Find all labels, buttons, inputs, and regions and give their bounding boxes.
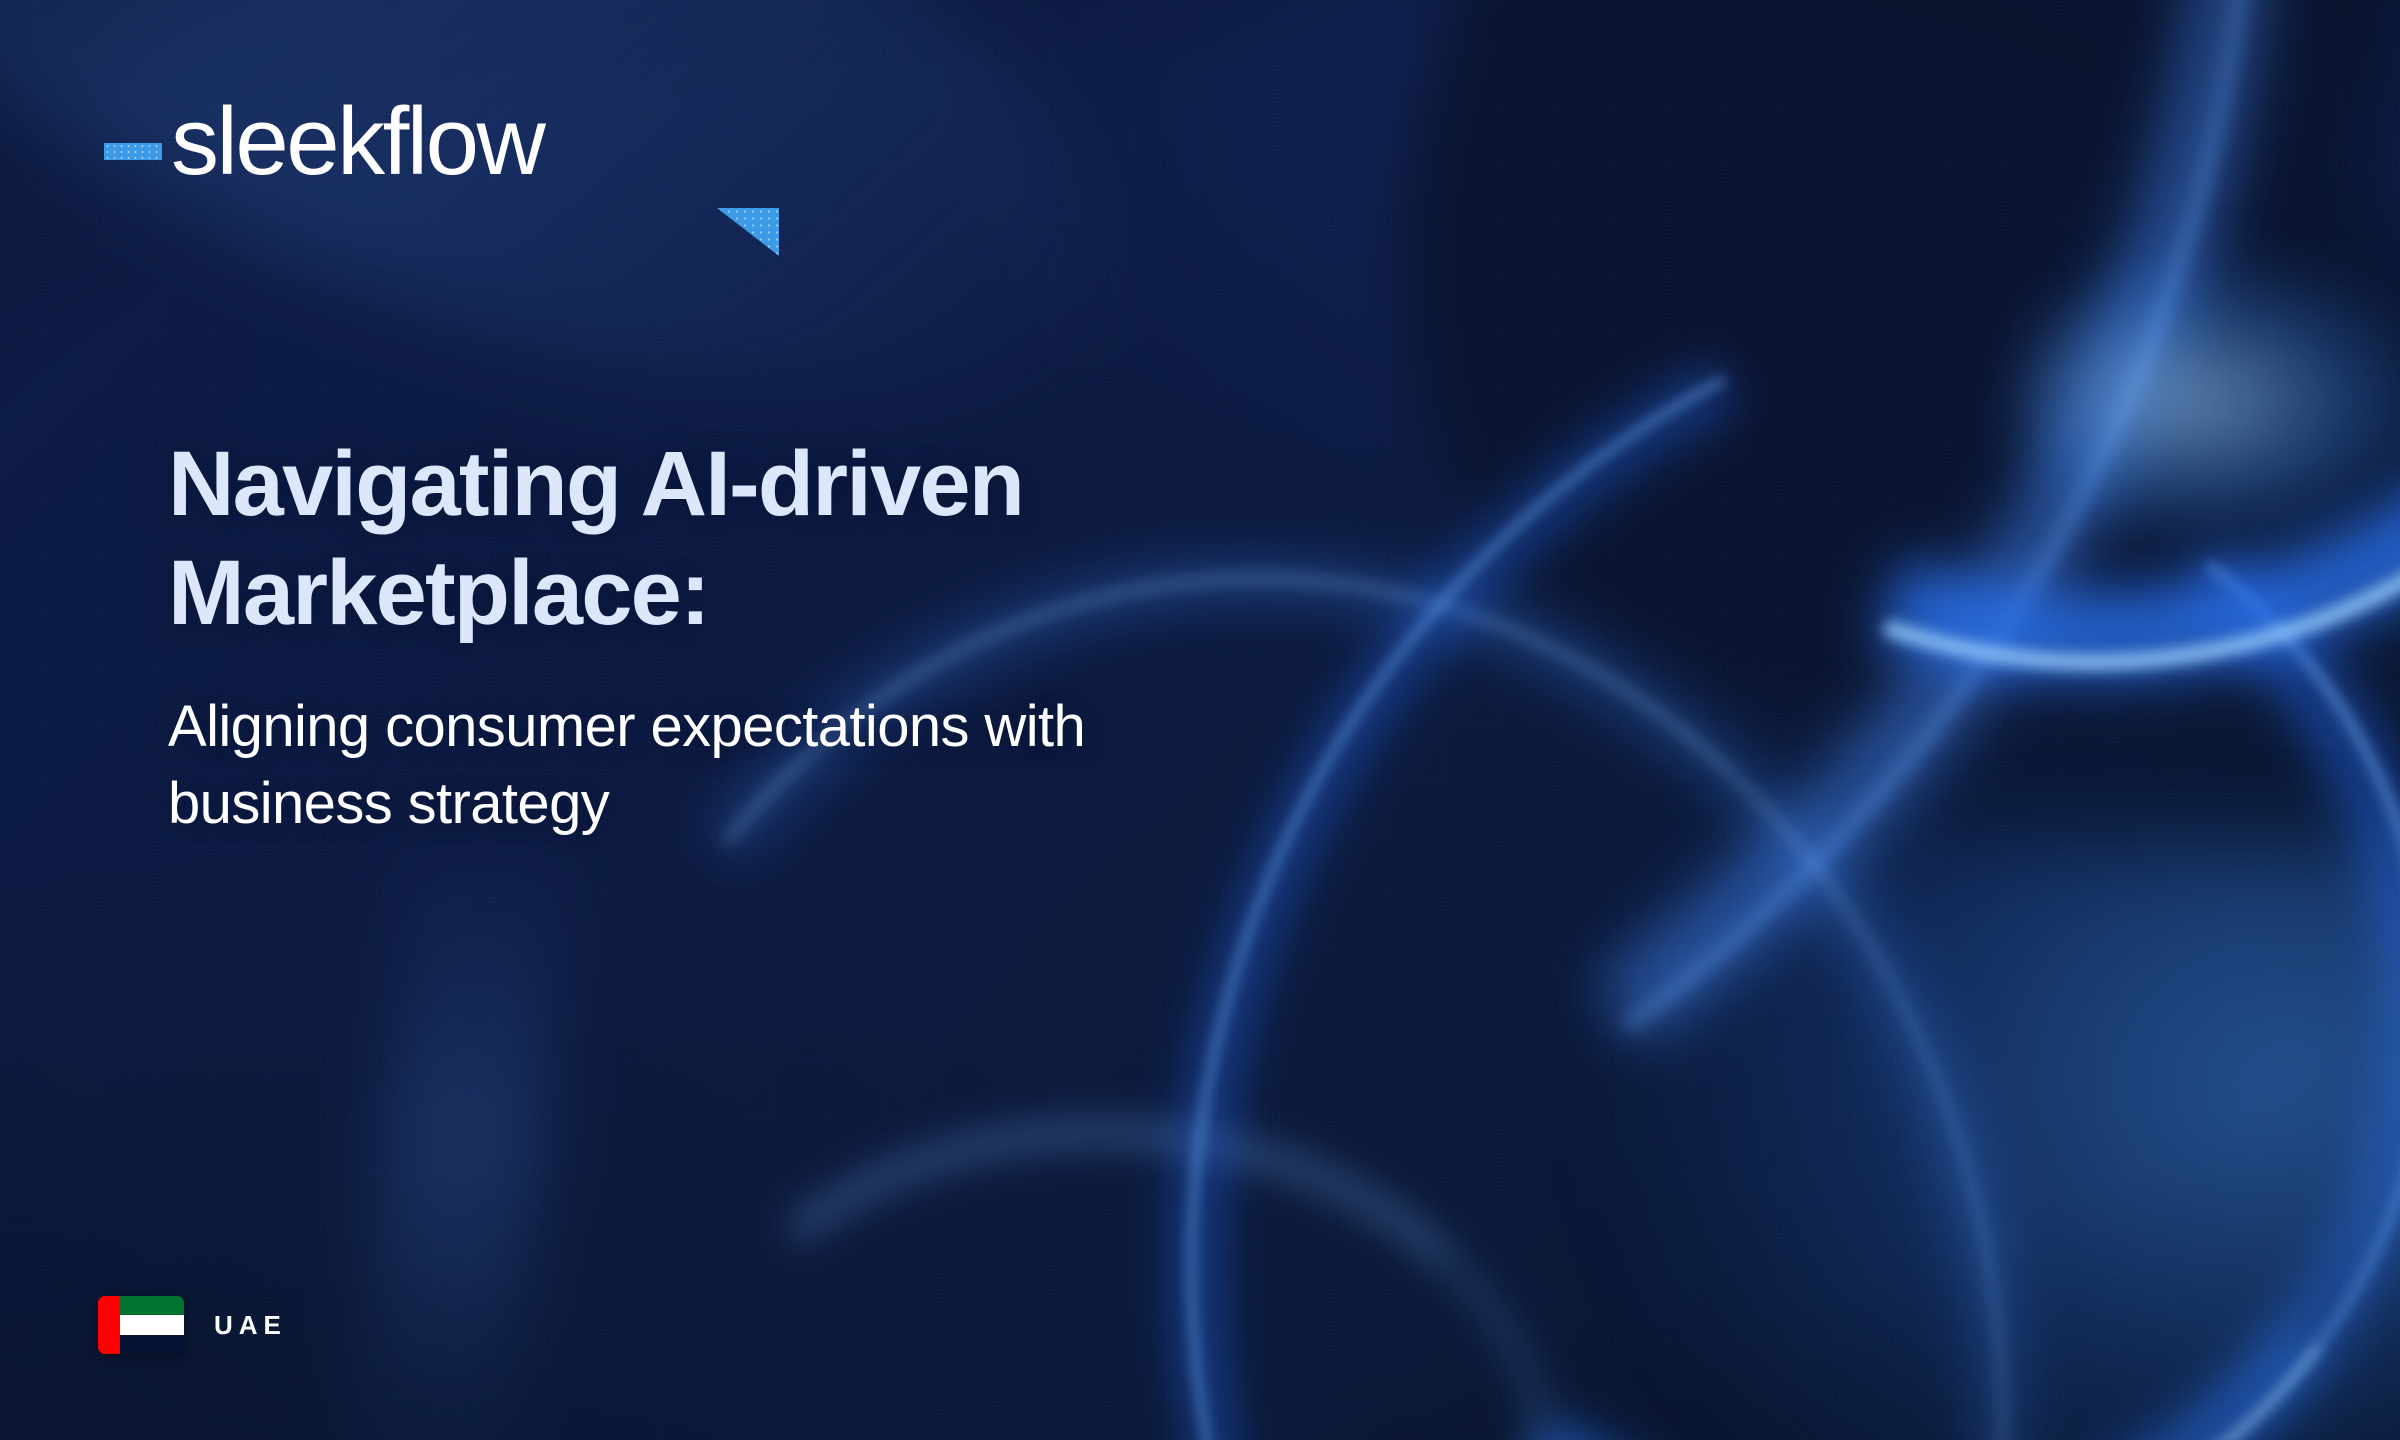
page-subtitle: Aligning consumer expectations with busi… xyxy=(168,689,1488,842)
triangle-accent-mark-icon xyxy=(717,208,779,256)
logo-wordmark: sleekflow xyxy=(171,96,543,188)
flag-stripe-green xyxy=(120,1296,185,1315)
underscore-mark-icon xyxy=(104,143,162,160)
title-slide: sleekflow Navigating AI-driven Marketpla… xyxy=(0,0,2400,1440)
flag-stripe-white xyxy=(120,1315,185,1334)
title-block: Navigating AI-driven Marketplace: Aligni… xyxy=(168,430,1488,842)
flag-stripes xyxy=(120,1296,185,1354)
country-label: UAE xyxy=(214,1310,287,1341)
country-badge: UAE xyxy=(98,1296,287,1354)
flag-stripe-black xyxy=(120,1335,185,1354)
sleekflow-logo[interactable]: sleekflow xyxy=(104,96,543,188)
flag-hoist-band xyxy=(98,1296,120,1354)
page-title: Navigating AI-driven Marketplace: xyxy=(168,430,1488,647)
uae-flag-icon xyxy=(98,1296,184,1354)
slide-content: sleekflow Navigating AI-driven Marketpla… xyxy=(0,0,2400,1440)
